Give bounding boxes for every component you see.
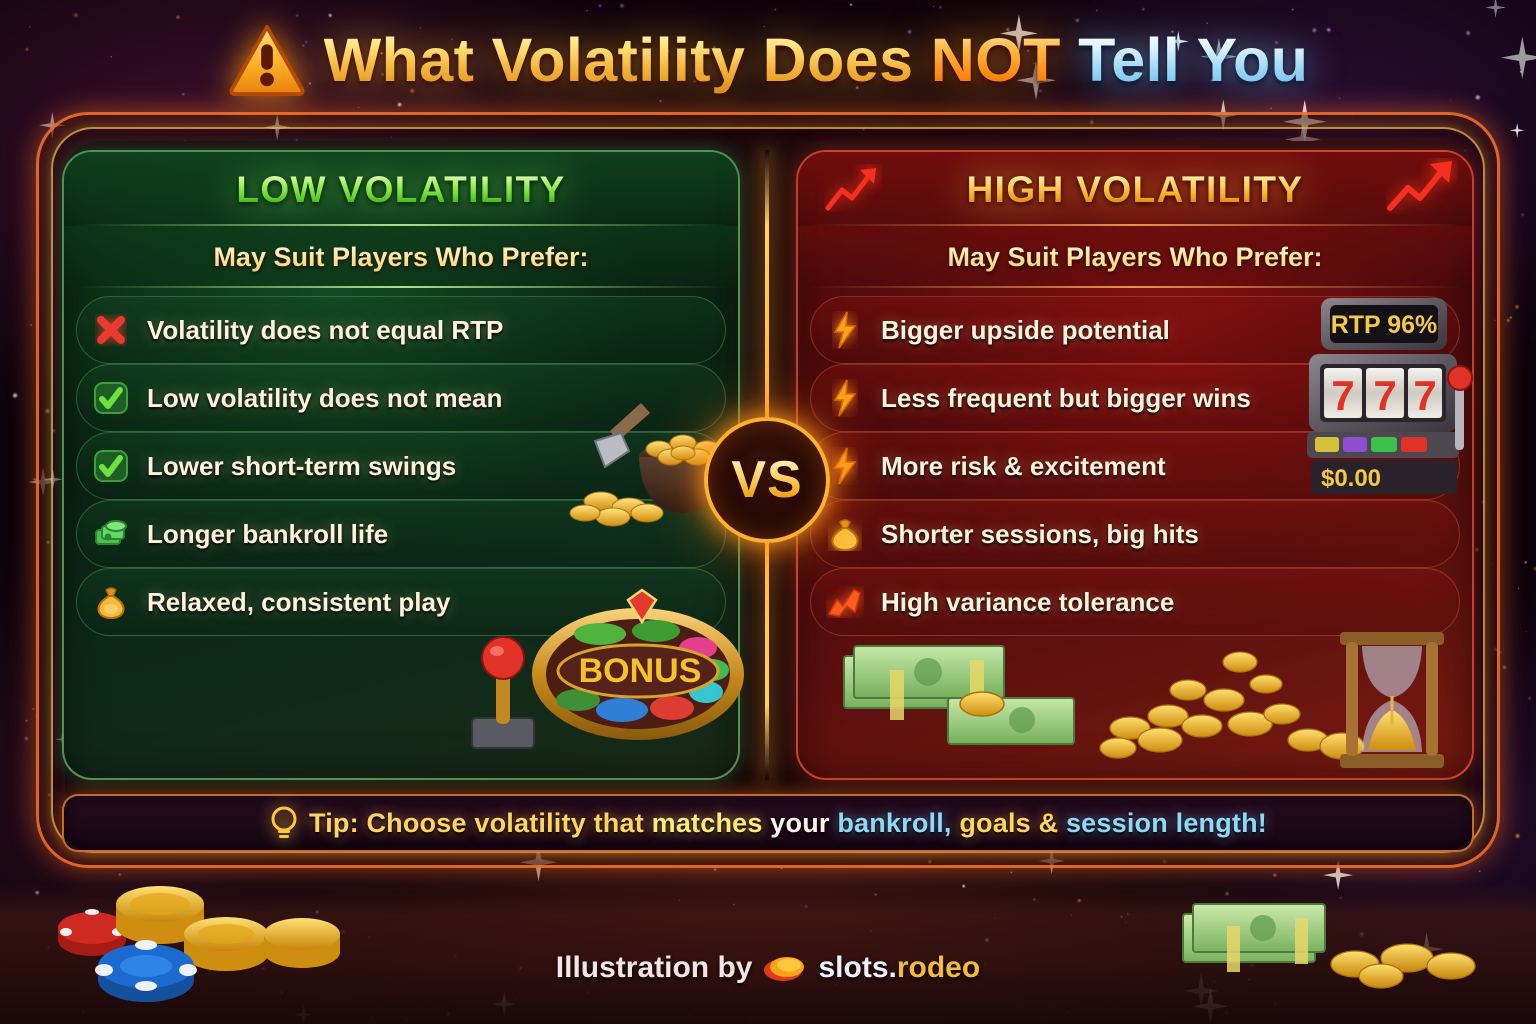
tip-bar: Tip: Choose volatility that matches your… xyxy=(62,794,1474,852)
tip-segment-matches: matches xyxy=(652,808,771,838)
list-item-label: Low volatility does not mean xyxy=(147,383,502,414)
tip-segment-session: session length! xyxy=(1066,808,1267,838)
infographic-canvas: What Volatility Does NOT Tell You xyxy=(0,0,1536,1024)
tip-segment-your: your xyxy=(770,808,837,838)
zigzag-arrow-icon xyxy=(823,582,867,622)
red-arrow-up-icon xyxy=(824,164,882,212)
money-bag-icon xyxy=(89,582,133,622)
lightning-bolt-icon xyxy=(823,310,867,350)
red-cross-icon xyxy=(89,310,133,350)
high-volatility-list: Bigger upside potential Less frequent bu… xyxy=(798,288,1472,636)
title-segment-gold: What Volatility Does xyxy=(324,26,931,94)
low-volatility-subtitle: May Suit Players Who Prefer: xyxy=(213,242,588,273)
tip-segment-bankroll: bankroll, xyxy=(837,808,959,838)
list-item[interactable]: Low volatility does not mean xyxy=(76,364,726,432)
footer-prefix: Illustration by xyxy=(556,951,753,985)
green-check-icon xyxy=(89,378,133,418)
list-item[interactable]: Less frequent but bigger wins xyxy=(810,364,1460,432)
list-item[interactable]: Relaxed, consistent play xyxy=(76,568,726,636)
list-item[interactable]: More risk & excitement xyxy=(810,432,1460,500)
low-volatility-list: Volatility does not equal RTP Low volati… xyxy=(64,288,738,636)
list-item-label: Volatility does not equal RTP xyxy=(147,315,503,346)
tip-text: Tip: Choose volatility that matches your… xyxy=(309,808,1267,839)
tip-segment-goals: goals & xyxy=(959,808,1066,838)
slots-rodeo-logo-icon xyxy=(763,953,807,983)
warning-triangle-icon xyxy=(228,23,306,97)
high-volatility-subheader: May Suit Players Who Prefer: xyxy=(798,226,1472,288)
list-item[interactable]: Lower short-term swings xyxy=(76,432,726,500)
tip-segment-1: Tip: Choose volatility that xyxy=(309,808,652,838)
list-item-label: More risk & excitement xyxy=(881,451,1166,482)
red-arrow-up-icon xyxy=(1386,158,1458,214)
lightbulb-icon xyxy=(269,806,299,840)
money-bag-icon xyxy=(823,514,867,554)
green-check-icon xyxy=(89,446,133,486)
footer-brand: slots.rodeo xyxy=(818,951,980,985)
footer-brand-name: slots. xyxy=(818,951,896,984)
high-volatility-subtitle: May Suit Players Who Prefer: xyxy=(947,242,1322,273)
title-segment-not: NOT xyxy=(931,26,1078,94)
vs-badge: VS xyxy=(704,417,830,543)
list-item-label: Bigger upside potential xyxy=(881,315,1170,346)
footer-brand-tld: rodeo xyxy=(897,951,980,984)
list-item-label: Longer bankroll life xyxy=(147,519,388,550)
list-item-label: High variance tolerance xyxy=(881,587,1174,618)
list-item-label: Relaxed, consistent play xyxy=(147,587,450,618)
list-item[interactable]: Shorter sessions, big hits xyxy=(810,500,1460,568)
title-segment-blue: Tell You xyxy=(1078,26,1308,94)
high-volatility-panel: HIGH VOLATILITY May Suit Players Who Pre… xyxy=(796,150,1474,780)
high-volatility-header: HIGH VOLATILITY xyxy=(798,152,1472,226)
page-title: What Volatility Does NOT Tell You xyxy=(324,30,1309,91)
high-volatility-title: HIGH VOLATILITY xyxy=(967,171,1304,208)
list-item[interactable]: High variance tolerance xyxy=(810,568,1460,636)
page-title-row: What Volatility Does NOT Tell You xyxy=(0,14,1536,106)
low-volatility-panel: LOW VOLATILITY May Suit Players Who Pref… xyxy=(62,150,740,780)
low-volatility-title: LOW VOLATILITY xyxy=(236,171,565,208)
list-item[interactable]: Longer bankroll life xyxy=(76,500,726,568)
list-item-label: Less frequent but bigger wins xyxy=(881,383,1251,414)
list-item-label: Lower short-term swings xyxy=(147,451,456,482)
list-item[interactable]: Volatility does not equal RTP xyxy=(76,296,726,364)
lightning-bolt-icon xyxy=(823,378,867,418)
low-volatility-subheader: May Suit Players Who Prefer: xyxy=(64,226,738,288)
list-item-label: Shorter sessions, big hits xyxy=(881,519,1199,550)
list-item[interactable]: Bigger upside potential xyxy=(810,296,1460,364)
low-volatility-header: LOW VOLATILITY xyxy=(64,152,738,226)
vs-label: VS xyxy=(731,454,802,506)
footer-attribution: Illustration by slots.rodeo xyxy=(0,940,1536,996)
money-stack-icon xyxy=(89,514,133,554)
